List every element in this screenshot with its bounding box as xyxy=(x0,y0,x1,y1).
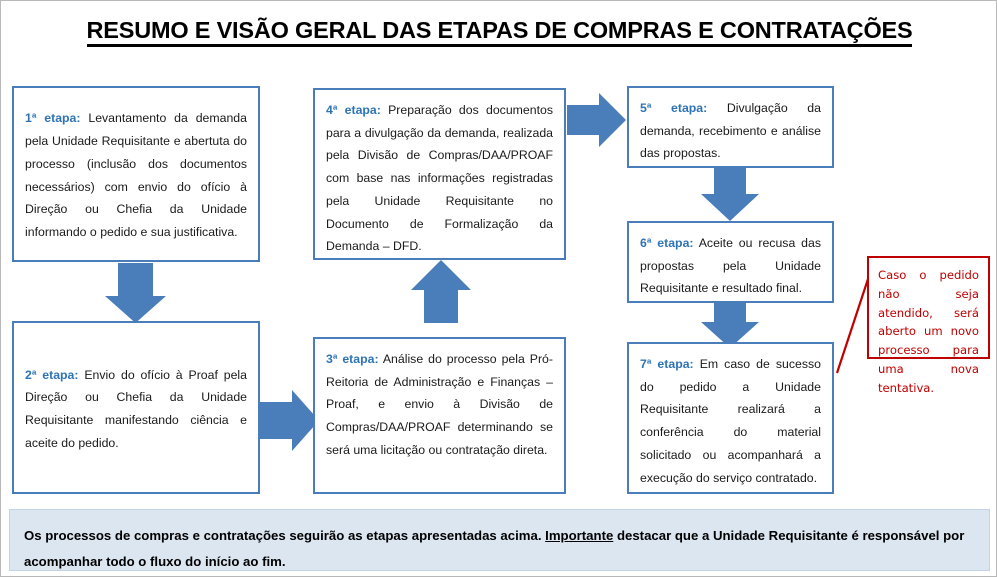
arrow-step5-to-step6 xyxy=(701,168,759,221)
page-title-text: RESUMO E VISÃO GERAL DAS ETAPAS DE COMPR… xyxy=(87,17,913,47)
step-4-text: Preparação dos documentos para a divulga… xyxy=(326,103,553,253)
step-box-4: 4ª etapa: Preparação dos documentos para… xyxy=(313,88,566,260)
footer-note: Os processos de compras e contratações s… xyxy=(9,509,990,571)
page-title: RESUMO E VISÃO GERAL DAS ETAPAS DE COMPR… xyxy=(1,17,997,44)
step-7-label: 7ª etapa: xyxy=(640,357,694,371)
footer-emphasis: Importante xyxy=(545,528,613,543)
step-4-label: 4ª etapa: xyxy=(326,103,381,117)
step-5-label: 5ª etapa: xyxy=(640,101,707,115)
step-6-label: 6ª etapa: xyxy=(640,236,694,250)
arrow-step4-to-step5 xyxy=(567,93,626,147)
step-box-3: 3ª etapa: Análise do processo pela Pró-R… xyxy=(313,337,566,494)
step-box-5: 5ª etapa: Divulgação da demanda, recebim… xyxy=(627,86,834,168)
step-box-1: 1ª etapa: Levantamento da demanda pela U… xyxy=(12,86,260,262)
step-3-text: Análise do processo pela Pró-Reitoria de… xyxy=(326,352,553,457)
step-3-label: 3ª etapa: xyxy=(326,352,379,366)
step-7-text: Em caso de sucesso do pedido a Unidade R… xyxy=(640,357,821,485)
callout-box: Caso o pedido não seja atendido, será ab… xyxy=(867,256,990,359)
step-1-text: Levantamento da demanda pela Unidade Req… xyxy=(25,111,247,239)
step-box-6: 6ª etapa: Aceite ou recusa das propostas… xyxy=(627,221,834,303)
step-1-label: 1ª etapa: xyxy=(25,111,80,125)
arrow-step3-to-step4 xyxy=(411,260,471,323)
flowchart-canvas: RESUMO E VISÃO GERAL DAS ETAPAS DE COMPR… xyxy=(0,0,997,577)
step-2-label: 2ª etapa: xyxy=(25,368,78,382)
callout-text: Caso o pedido não seja atendido, será ab… xyxy=(878,268,979,395)
arrow-step1-to-step2 xyxy=(105,263,166,323)
step-box-2: 2ª etapa: Envio do ofício à Proaf pela D… xyxy=(12,321,260,494)
footer-text-part1: Os processos de compras e contratações s… xyxy=(24,528,545,543)
step-box-7: 7ª etapa: Em caso de sucesso do pedido a… xyxy=(627,342,834,494)
connector-step7-to-callout xyxy=(837,279,868,373)
arrow-step2-to-step3 xyxy=(260,390,319,451)
